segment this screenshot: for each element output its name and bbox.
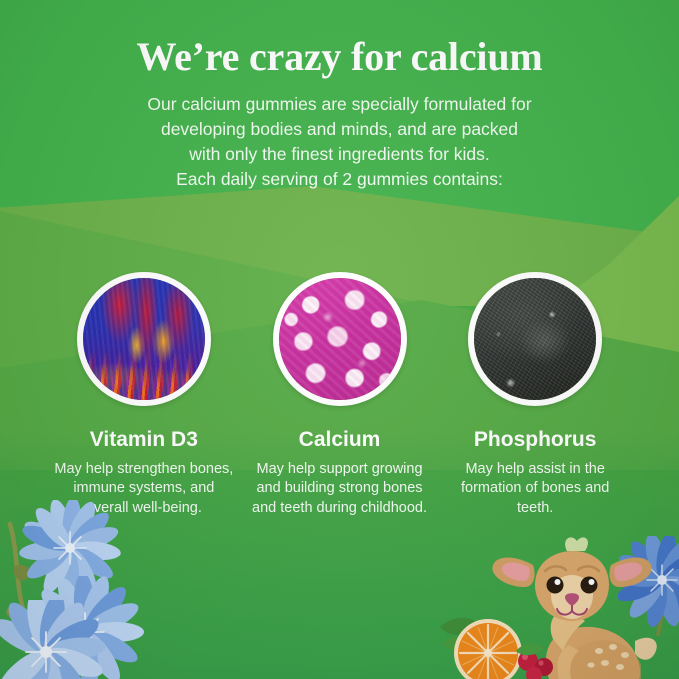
header: We’re crazy for calcium Our calcium gumm… (0, 0, 679, 191)
nutrient-title-phosphorus: Phosphorus (437, 428, 633, 451)
nutrient-card-calcium: Calcium May help support growing and bui… (242, 272, 438, 518)
calcium-gummies-infographic: We’re crazy for calcium Our calcium gumm… (0, 0, 679, 679)
intro-line-1: Our calcium gummies are specially formul… (58, 92, 621, 117)
nutrient-card-vitamin-d3: Vitamin D3 May help strengthen bones, im… (46, 272, 242, 518)
calcium-bone-tissue-micrograph (273, 272, 407, 406)
nutrient-description-calcium: May help support growing and building st… (242, 460, 438, 518)
intro-paragraph: Our calcium gummies are specially formul… (0, 78, 679, 191)
page-title: We’re crazy for calcium (0, 0, 679, 78)
phosphorus-mineral-photo (468, 272, 602, 406)
vitamin-d3-crystal-micrograph (77, 272, 211, 406)
nutrient-card-phosphorus: Phosphorus May help assist in the format… (437, 272, 633, 518)
vitamin-d3-image-texture (83, 278, 205, 400)
intro-line-4: Each daily serving of 2 gummies contains… (58, 167, 621, 192)
calcium-image-texture (279, 278, 401, 400)
intro-line-2: developing bodies and minds, and are pac… (58, 117, 621, 142)
nutrient-title-calcium: Calcium (242, 428, 438, 451)
phosphorus-image-texture (474, 278, 596, 400)
nutrient-title-vitamin-d3: Vitamin D3 (46, 428, 242, 451)
intro-line-3: with only the finest ingredients for kid… (58, 142, 621, 167)
nutrient-description-vitamin-d3: May help strengthen bones, immune system… (46, 460, 242, 518)
nutrient-cards: Vitamin D3 May help strengthen bones, im… (0, 272, 679, 518)
nutrient-description-phosphorus: May help assist in the formation of bone… (437, 460, 633, 518)
